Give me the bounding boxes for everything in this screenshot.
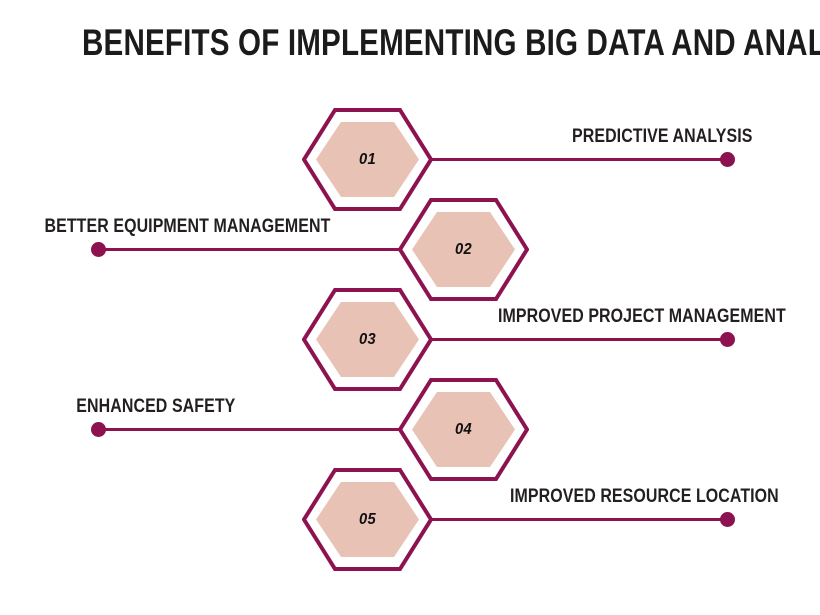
- hexagon-badge-03[interactable]: 03: [302, 288, 433, 391]
- page-title: BENEFITS OF IMPLEMENTING BIG DATA AND AN…: [82, 21, 738, 65]
- benefit-label-03: IMPROVED PROJECT MANAGEMENT: [498, 306, 786, 328]
- connector-line-05: [430, 518, 727, 521]
- benefit-label-04: ENHANCED SAFETY: [76, 396, 235, 418]
- hexagon-badge-02[interactable]: 02: [398, 198, 529, 301]
- connector-line-02: [98, 248, 401, 251]
- connector-endpoint-dot-02: [91, 242, 106, 257]
- hexagon-inner-fill: [316, 482, 419, 557]
- benefit-row-05: IMPROVED RESOURCE LOCATION 05: [0, 468, 820, 578]
- connector-line-04: [98, 428, 401, 431]
- hexagon-badge-04[interactable]: 04: [398, 378, 529, 481]
- benefit-label-01: PREDICTIVE ANALYSIS: [572, 126, 752, 148]
- hexagon-inner-fill: [316, 302, 419, 377]
- connector-endpoint-dot-04: [91, 422, 106, 437]
- hexagon-badge-05[interactable]: 05: [302, 468, 433, 571]
- hexagon-inner-fill: [412, 212, 515, 287]
- hexagon-badge-01[interactable]: 01: [302, 108, 433, 211]
- connector-endpoint-dot-01: [720, 152, 735, 167]
- hexagon-inner-fill: [316, 122, 419, 197]
- benefit-label-05: IMPROVED RESOURCE LOCATION: [510, 486, 779, 508]
- hexagon-inner-fill: [412, 392, 515, 467]
- benefit-label-02: BETTER EQUIPMENT MANAGEMENT: [44, 216, 330, 238]
- connector-line-01: [430, 158, 727, 161]
- connector-endpoint-dot-03: [720, 332, 735, 347]
- connector-line-03: [430, 338, 727, 341]
- connector-endpoint-dot-05: [720, 512, 735, 527]
- infographic-canvas: BENEFITS OF IMPLEMENTING BIG DATA AND AN…: [0, 0, 820, 615]
